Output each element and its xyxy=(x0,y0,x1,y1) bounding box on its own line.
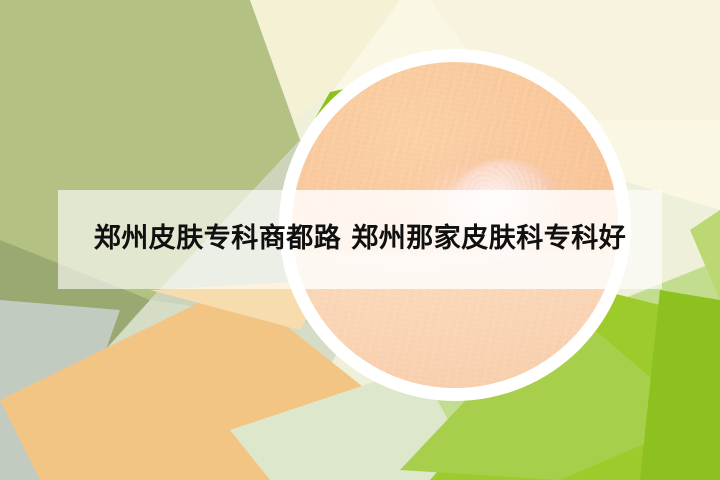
page-title: 郑州皮肤专科商都路 郑州那家皮肤科专科好 xyxy=(94,223,626,255)
cover-image: 郑州皮肤专科商都路 郑州那家皮肤科专科好 xyxy=(0,0,720,480)
title-band: 郑州皮肤专科商都路 郑州那家皮肤科专科好 xyxy=(58,190,662,289)
